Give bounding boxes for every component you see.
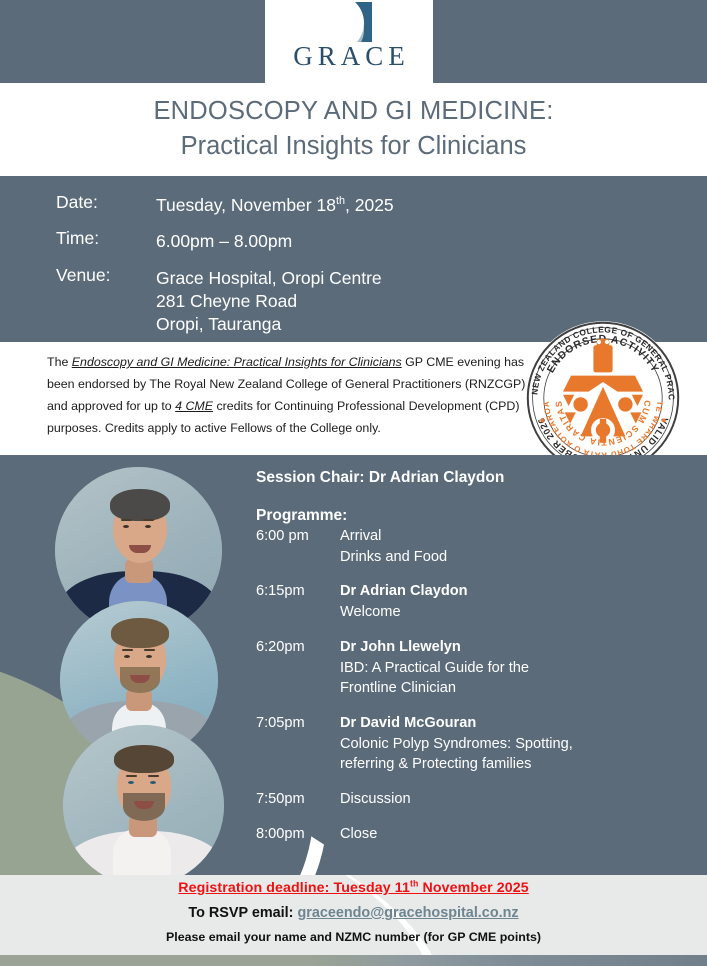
detail-row-venue: Venue: Grace Hospital, Oropi Centre 281 … bbox=[56, 267, 394, 337]
event-flyer: GRACE ENDOSCOPY AND GI MEDICINE: Practic… bbox=[0, 0, 707, 966]
programme-row: 6:15pm Dr Adrian Claydon Welcome bbox=[256, 581, 676, 622]
detail-label-time: Time: bbox=[56, 230, 156, 253]
event-details: Date: Tuesday, November 18th, 2025 Time:… bbox=[56, 194, 394, 349]
programme-time: 7:05pm bbox=[256, 713, 340, 775]
programme-band: Session Chair: Dr Adrian Claydon Program… bbox=[0, 455, 707, 875]
programme-topic: Colonic Polyp Syndromes: Spotting, refer… bbox=[340, 734, 676, 775]
programme-desc: Close bbox=[340, 824, 676, 845]
logo-wordmark: GRACE bbox=[288, 43, 410, 70]
rsvp-email-link[interactable]: graceendo@gracehospital.co.nz bbox=[297, 905, 518, 921]
footer-band: Registration deadline: Tuesday 11th Nove… bbox=[0, 875, 707, 955]
rsvp-label: To RSVP email: bbox=[188, 905, 293, 921]
programme-desc: Dr John Llewelyn IBD: A Practical Guide … bbox=[340, 637, 676, 699]
bottom-accent-strip bbox=[0, 955, 707, 966]
page-title: ENDOSCOPY AND GI MEDICINE: bbox=[153, 97, 553, 126]
programme-row: 6:20pm Dr John Llewelyn IBD: A Practical… bbox=[256, 637, 676, 699]
page-subtitle: Practical Insights for Clinicians bbox=[181, 131, 527, 162]
programme-speaker: Dr David McGouran bbox=[340, 713, 676, 734]
grace-square-crescent-logo-icon bbox=[326, 2, 372, 42]
programme-topic: IBD: A Practical Guide for the Frontline… bbox=[340, 658, 676, 699]
programme-text: Session Chair: Dr Adrian Claydon Program… bbox=[256, 469, 676, 845]
rsvp-line: To RSVP email: graceendo@gracehospital.c… bbox=[0, 905, 707, 921]
detail-value-date: Tuesday, November 18th, 2025 bbox=[156, 194, 394, 217]
programme-topic: Arrival Drinks and Food bbox=[340, 526, 676, 567]
programme-row: 6:00 pm Arrival Drinks and Food bbox=[256, 526, 676, 567]
endorsement-paragraph: The Endoscopy and GI Medicine: Practical… bbox=[47, 351, 528, 439]
detail-row-date: Date: Tuesday, November 18th, 2025 bbox=[56, 194, 394, 217]
programme-label: Programme: bbox=[256, 507, 676, 525]
programme-time: 6:20pm bbox=[256, 637, 340, 699]
programme-desc: Arrival Drinks and Food bbox=[340, 526, 676, 567]
rnzcgp-endorsement-seal-icon: THE ROYAL NEW ZEALAND COLLEGE OF GENERAL… bbox=[523, 318, 683, 478]
endorsement-event-title: Endoscopy and GI Medicine: Practical Ins… bbox=[72, 355, 402, 369]
detail-value-time: 6.00pm – 8.00pm bbox=[156, 230, 292, 253]
programme-row: 7:50pm Discussion bbox=[256, 789, 676, 810]
programme-topic: Discussion bbox=[340, 789, 676, 810]
nzmc-note: Please email your name and NZMC number (… bbox=[0, 930, 707, 944]
programme-desc: Dr David McGouran Colonic Polyp Syndrome… bbox=[340, 713, 676, 775]
programme-row: 7:05pm Dr David McGouran Colonic Polyp S… bbox=[256, 713, 676, 775]
footer-content: Registration deadline: Tuesday 11th Nove… bbox=[0, 880, 707, 944]
programme-time: 6:15pm bbox=[256, 581, 340, 622]
detail-label-venue: Venue: bbox=[56, 267, 156, 337]
endorsement-credits: 4 CME bbox=[175, 399, 213, 413]
programme-desc: Dr Adrian Claydon Welcome bbox=[340, 581, 676, 622]
programme-topic: Close bbox=[340, 824, 676, 845]
registration-deadline: Registration deadline: Tuesday 11th Nove… bbox=[0, 880, 707, 896]
session-chair: Session Chair: Dr Adrian Claydon bbox=[256, 469, 676, 487]
programme-time: 6:00 pm bbox=[256, 526, 340, 567]
portrait-dr-david-mcgouran bbox=[63, 725, 224, 875]
programme-time: 7:50pm bbox=[256, 789, 340, 810]
title-band: ENDOSCOPY AND GI MEDICINE: Practical Ins… bbox=[0, 83, 707, 176]
detail-value-venue: Grace Hospital, Oropi Centre 281 Cheyne … bbox=[156, 267, 382, 337]
detail-row-time: Time: 6.00pm – 8.00pm bbox=[56, 230, 394, 253]
programme-row: 8:00pm Close bbox=[256, 824, 676, 845]
programme-time: 8:00pm bbox=[256, 824, 340, 845]
programme-desc: Discussion bbox=[340, 789, 676, 810]
programme-topic: Welcome bbox=[340, 602, 676, 623]
programme-speaker: Dr Adrian Claydon bbox=[340, 581, 676, 602]
grace-logo: GRACE bbox=[265, 0, 433, 83]
programme-speaker: Dr John Llewelyn bbox=[340, 637, 676, 658]
detail-label-date: Date: bbox=[56, 194, 156, 217]
